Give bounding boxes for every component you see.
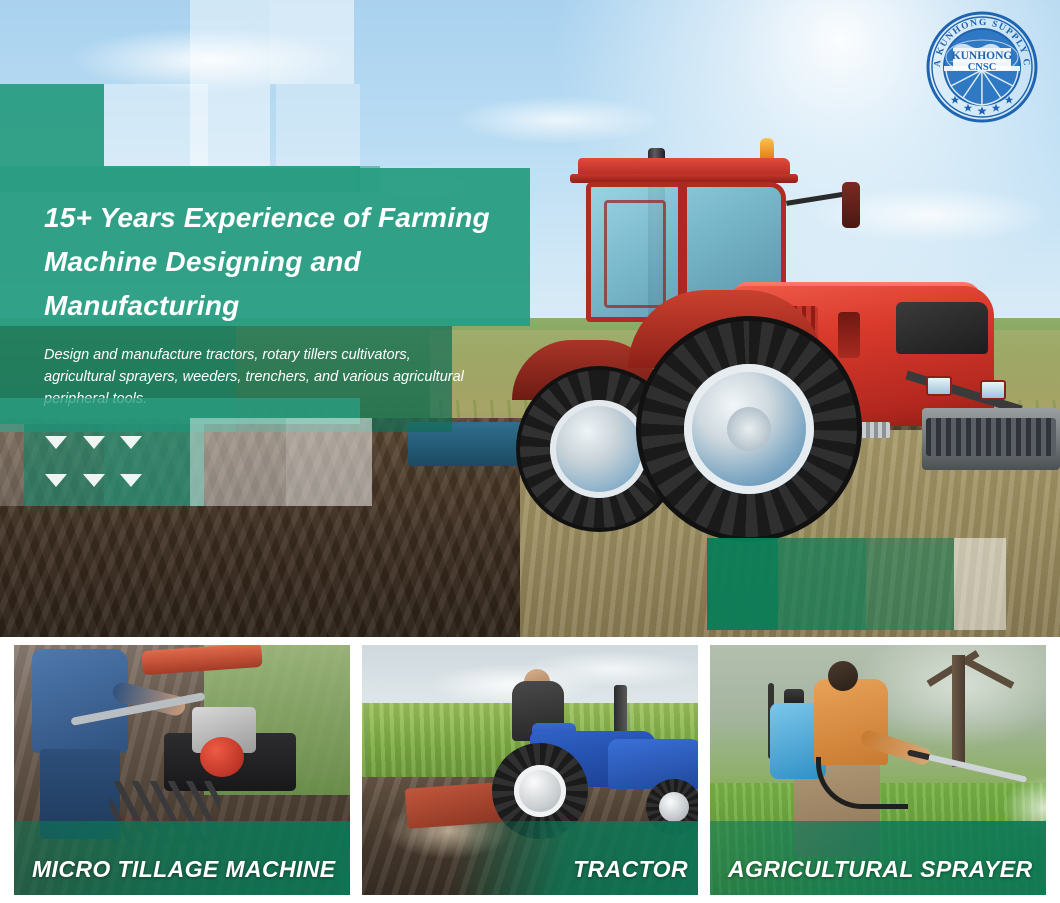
tractor-cab-door	[604, 200, 666, 308]
tractor-headlight-left	[926, 376, 952, 396]
product-card-strip: MICRO TILLAGE MACHINE TRACTOR	[0, 645, 1060, 903]
product-card-agricultural-sprayer[interactable]: AGRICULTURAL SPRAYER	[710, 645, 1046, 895]
tractor-beacon-light	[760, 138, 774, 160]
banner-page: 15+ Years Experience of Farming Machine …	[0, 0, 1060, 903]
hero-headline: 15+ Years Experience of Farming Machine …	[44, 196, 514, 328]
logo-brand-line-1: KUNHONG	[952, 50, 1013, 62]
tractor-side-window	[896, 302, 988, 354]
tractor-front-ribs	[926, 418, 1056, 456]
triangle-icon-6	[120, 474, 142, 487]
tractor-mirror	[842, 182, 860, 228]
tractor-side-vent	[838, 312, 860, 358]
mosaic-tile-sky-2	[104, 84, 208, 166]
hero-banner: 15+ Years Experience of Farming Machine …	[0, 0, 1060, 637]
card-2-front-rim	[659, 792, 689, 822]
card-1-operator-torso	[32, 649, 128, 753]
triangle-icon-2	[83, 436, 105, 449]
triangle-icon-1	[45, 436, 67, 449]
mosaic-tile-sky-5	[276, 84, 360, 168]
company-logo: KUNHONG CNSC CHINA KUNHONG SUPPLY CHAIN	[923, 8, 1041, 126]
mosaic-tile-sky-1	[0, 84, 104, 168]
triangle-icon-5	[83, 474, 105, 487]
card-1-label: MICRO TILLAGE MACHINE	[32, 856, 336, 883]
tractor-mirror-arm	[786, 191, 848, 206]
decor-block-right-4	[954, 538, 1006, 630]
decor-tile-3	[104, 424, 204, 506]
decor-tile-5	[190, 418, 286, 506]
tractor-front-rim	[550, 400, 648, 498]
triangle-icon-3	[120, 436, 142, 449]
card-3-tree-trunk	[952, 655, 965, 767]
decor-tile-1	[0, 424, 24, 506]
tractor-rear-hub	[727, 407, 771, 451]
mosaic-tile-sky-4	[270, 0, 354, 84]
card-3-label: AGRICULTURAL SPRAYER	[728, 856, 1032, 883]
hero-tractor-image	[508, 130, 1060, 550]
decor-block-right-3	[866, 538, 954, 630]
logo-brand-line-2: CNSC	[968, 62, 997, 73]
product-card-tractor[interactable]: TRACTOR	[362, 645, 698, 895]
card-3-operator-head	[828, 661, 858, 691]
decor-tile-6	[286, 418, 372, 506]
decor-block-right-2	[778, 538, 866, 630]
card-3-operator-torso	[814, 679, 888, 765]
card-1-engine-flywheel	[200, 737, 244, 777]
decor-block-right-1	[707, 538, 778, 630]
product-card-micro-tillage-machine[interactable]: MICRO TILLAGE MACHINE	[14, 645, 350, 895]
triangle-icon-4	[45, 474, 67, 487]
tractor-headlight-right	[980, 380, 1006, 400]
card-2-label: TRACTOR	[573, 856, 688, 883]
card-2-rear-rim	[514, 765, 566, 817]
